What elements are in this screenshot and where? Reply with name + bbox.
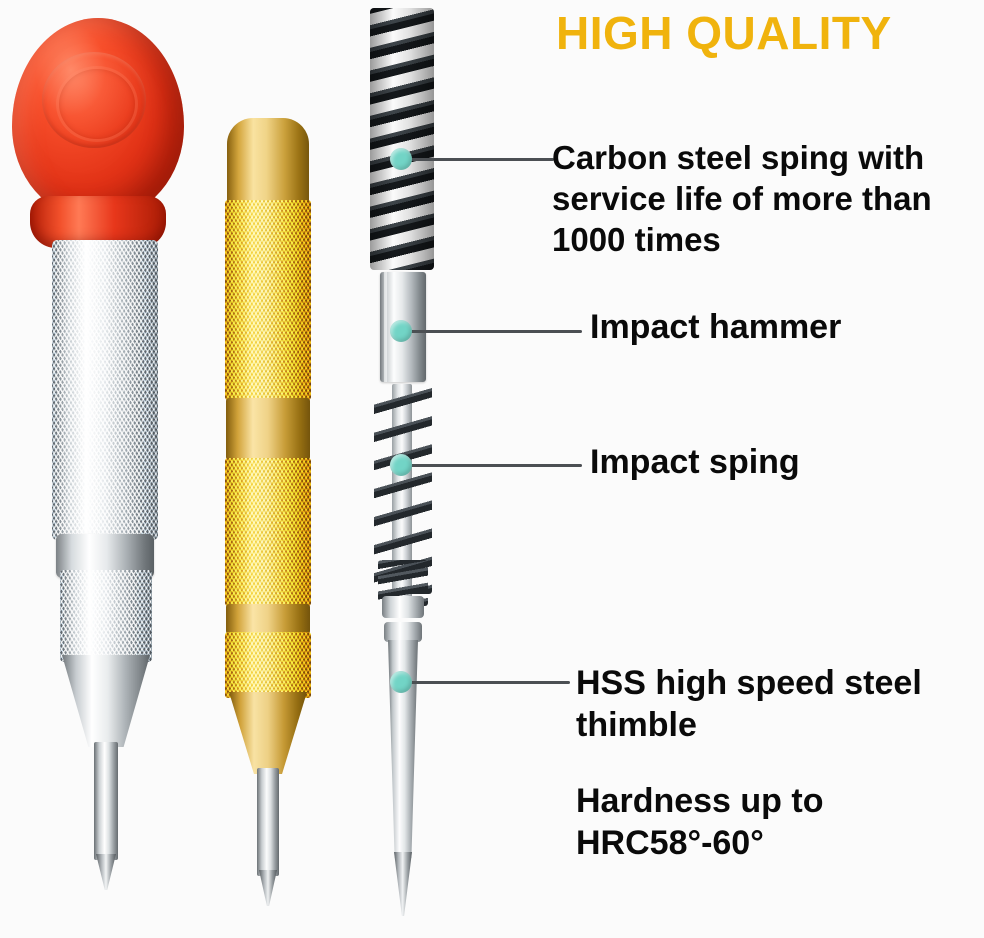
- brass-smooth-band-2: [226, 604, 310, 634]
- brass-pin-shaft: [257, 768, 279, 876]
- callout-label-carbon-steel-spring: Carbon steel sping with service life of …: [552, 138, 984, 261]
- brass-dome-cap: [227, 118, 309, 204]
- carbon-steel-spring-part: [370, 8, 434, 270]
- callout-dot-hss-thimble[interactable]: [390, 671, 412, 693]
- brass-cone-taper: [229, 692, 307, 774]
- hss-thimble-tip: [394, 852, 412, 916]
- brass-knurl-band-3: [225, 632, 311, 698]
- callout-label-impact-spring: Impact sping: [590, 441, 984, 483]
- product-brass-punch: [205, 0, 355, 938]
- infographic-canvas: HIGH QUALITY: [0, 0, 984, 938]
- brass-punch-tip: [259, 870, 277, 906]
- knurled-lower-grip: [60, 570, 152, 662]
- brass-knurl-band-1: [225, 200, 311, 400]
- knurled-upper-grip: [52, 240, 158, 540]
- callout-label-impact-hammer: Impact hammer: [590, 306, 984, 348]
- silver-cone-taper: [62, 655, 150, 747]
- silver-pin-shaft: [94, 742, 118, 860]
- leader-line-impact-hammer: [406, 330, 582, 333]
- callout-label-hardness: Hardness up to HRC58°-60°: [576, 780, 984, 864]
- red-ball-cap: [12, 18, 184, 218]
- brass-smooth-band-1: [226, 398, 310, 460]
- product-silver-punch: [0, 0, 210, 938]
- silver-punch-tip: [96, 854, 116, 890]
- page-title: HIGH QUALITY: [556, 10, 976, 56]
- leader-line-carbon-steel-spring: [404, 158, 554, 161]
- spring-collar-lower: [384, 622, 422, 642]
- callout-dot-impact-spring[interactable]: [390, 454, 412, 476]
- spring-collar-upper: [382, 596, 424, 618]
- callout-dot-impact-hammer[interactable]: [390, 320, 412, 342]
- brass-knurl-band-2: [225, 458, 311, 606]
- leader-line-impact-spring: [406, 464, 582, 467]
- callout-label-hss-thimble: HSS high speed steel thimble: [576, 662, 984, 746]
- embossed-logo-icon: [56, 66, 138, 142]
- leader-line-hss-thimble: [406, 681, 570, 684]
- callout-dot-carbon-steel-spring[interactable]: [390, 148, 412, 170]
